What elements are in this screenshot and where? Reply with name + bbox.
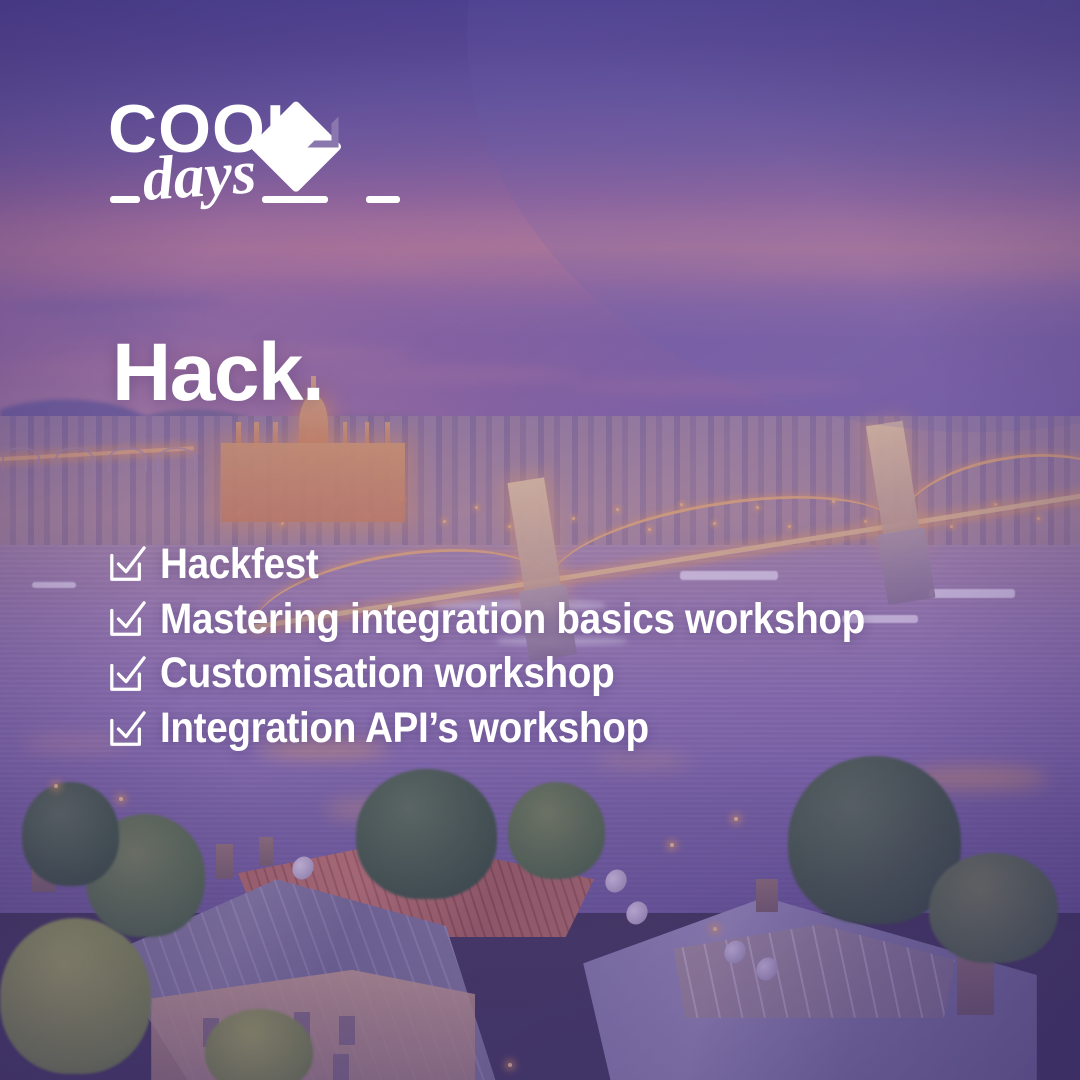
agenda-checklist: Hackfest Mastering integration basics wo…	[108, 542, 943, 751]
list-item: Mastering integration basics workshop	[108, 597, 943, 642]
checkbox-checked-icon	[108, 545, 146, 583]
logo-rule-left	[110, 196, 140, 203]
list-item: Hackfest	[108, 542, 943, 587]
logo-rule-mid	[262, 196, 328, 203]
logo-word-days: days	[140, 138, 258, 214]
cool-days-logo[interactable]: COOL days	[108, 96, 418, 220]
checkbox-checked-icon	[108, 655, 146, 693]
list-item-label: Hackfest	[160, 542, 318, 587]
list-item: Integration API’s workshop	[108, 706, 943, 751]
list-item-label: Mastering integration basics workshop	[160, 597, 865, 642]
promo-graphic: COOL days	[0, 0, 1080, 1080]
page-title: Hack.	[112, 332, 323, 414]
list-item: Customisation workshop	[108, 651, 943, 696]
list-item-label: Integration API’s workshop	[160, 706, 649, 751]
checkbox-checked-icon	[108, 600, 146, 638]
logo-rule-right	[366, 196, 400, 203]
list-item-label: Customisation workshop	[160, 651, 614, 696]
content-layer: COOL days	[0, 0, 1080, 1080]
checkbox-checked-icon	[108, 710, 146, 748]
